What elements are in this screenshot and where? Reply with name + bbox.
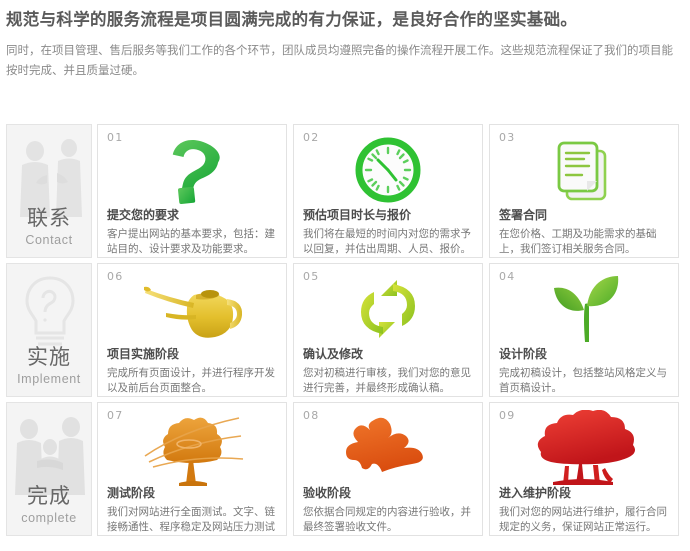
step-card[interactable]: 06 <box>97 263 287 397</box>
mature-tree-icon <box>490 409 678 487</box>
young-tree-icon <box>98 409 286 487</box>
step-card[interactable]: 03 签署合同 <box>489 124 679 258</box>
step-title: 确认及修改 <box>303 347 474 363</box>
stage-label-group: 联系 Contact <box>7 206 91 249</box>
lightbulb-silhouette-icon <box>7 270 91 356</box>
stage-label-cn: 联系 <box>7 206 91 230</box>
step-title: 进入维护阶段 <box>499 486 670 502</box>
step-description: 我们对网站进行全面测试。文字、链接畅通性、程序稳定及网站压力测试等. <box>107 505 278 536</box>
step-title: 提交您的要求 <box>107 208 278 224</box>
step-body: 提交您的要求 客户提出网站的基本要求，包括：建站目的、设计要求及功能要求。 <box>107 208 278 258</box>
page-title: 规范与科学的服务流程是项目圆满完成的有力保证，是良好合作的坚实基础。 <box>6 9 684 31</box>
stage-card-complete: 完成 complete <box>6 402 92 536</box>
handshake-people-silhouette-icon <box>7 409 91 495</box>
documents-icon <box>490 131 678 209</box>
stage-label-en: complete <box>7 510 91 528</box>
step-description: 在您价格、工期及功能需求的基础上，我们签订相关服务合同。 <box>499 227 670 258</box>
refresh-arrows-icon <box>294 270 482 348</box>
question-mark-icon <box>98 131 286 209</box>
step-title: 项目实施阶段 <box>107 347 278 363</box>
step-body: 进入维护阶段 我们对您的网站进行维护，履行合同规定的义务，保证网站正常运行。 <box>499 486 670 536</box>
step-title: 预估项目时长与报价 <box>303 208 474 224</box>
step-description: 您对初稿进行审核，我们对您的意见进行完善，并最终形成确认稿。 <box>303 366 474 397</box>
step-body: 确认及修改 您对初稿进行审核，我们对您的意见进行完善，并最终形成确认稿。 <box>303 347 474 397</box>
maple-leaf-icon <box>294 409 482 487</box>
service-process-page: 规范与科学的服务流程是项目圆满完成的有力保证，是良好合作的坚实基础。 同时，在项… <box>0 0 690 551</box>
process-grid: 联系 Contact 01 <box>6 124 684 536</box>
step-title: 签署合同 <box>499 208 670 224</box>
step-body: 签署合同 在您价格、工期及功能需求的基础上，我们签订相关服务合同。 <box>499 208 670 258</box>
stage-card-implement: 实施 Implement <box>6 263 92 397</box>
two-people-talking-silhouette-icon <box>7 131 91 217</box>
step-body: 设计阶段 完成初稿设计，包括整站风格定义与首页稿设计。 <box>499 347 670 397</box>
step-description: 完成所有页面设计，并进行程序开发以及前后台页面整合。 <box>107 366 278 397</box>
step-description: 您依据合同规定的内容进行验收，并最终签署验收文件。 <box>303 505 474 536</box>
step-description: 客户提出网站的基本要求，包括：建站目的、设计要求及功能要求。 <box>107 227 278 258</box>
stage-label-group: 完成 complete <box>7 484 91 527</box>
step-title: 验收阶段 <box>303 486 474 502</box>
step-body: 测试阶段 我们对网站进行全面测试。文字、链接畅通性、程序稳定及网站压力测试等. <box>107 486 278 536</box>
step-card[interactable]: 02 <box>293 124 483 258</box>
stage-label-en: Implement <box>7 371 91 389</box>
stage-label-group: 实施 Implement <box>7 345 91 388</box>
stage-label-cn: 完成 <box>7 484 91 508</box>
step-description: 完成初稿设计，包括整站风格定义与首页稿设计。 <box>499 366 670 397</box>
step-title: 测试阶段 <box>107 486 278 502</box>
page-subtitle: 同时，在项目管理、售后服务等我们工作的各个环节，团队成员均遵照完备的操作流程开展… <box>6 42 684 82</box>
step-description: 我们将在最短的时间内对您的需求予以回复，并估出周期、人员、报价。 <box>303 227 474 258</box>
process-row: 实施 Implement 06 <box>6 263 684 397</box>
process-row: 联系 Contact 01 <box>6 124 684 258</box>
page-header: 规范与科学的服务流程是项目圆满完成的有力保证，是良好合作的坚实基础。 同时，在项… <box>0 0 690 82</box>
stage-label-en: Contact <box>7 232 91 250</box>
stage-card-contact: 联系 Contact <box>6 124 92 258</box>
process-row: 完成 complete 07 <box>6 402 684 536</box>
step-body: 预估项目时长与报价 我们将在最短的时间内对您的需求予以回复，并估出周期、人员、报… <box>303 208 474 258</box>
step-card[interactable]: 09 <box>489 402 679 536</box>
watering-can-icon <box>98 270 286 348</box>
step-description: 我们对您的网站进行维护，履行合同规定的义务，保证网站正常运行。 <box>499 505 670 536</box>
step-card[interactable]: 04 <box>489 263 679 397</box>
step-body: 验收阶段 您依据合同规定的内容进行验收，并最终签署验收文件。 <box>303 486 474 536</box>
step-card[interactable]: 05 确认及修改 <box>293 263 483 397</box>
clock-icon <box>294 131 482 209</box>
sprout-leaf-icon <box>490 270 678 348</box>
step-card[interactable]: 07 <box>97 402 287 536</box>
stage-label-cn: 实施 <box>7 345 91 369</box>
step-body: 项目实施阶段 完成所有页面设计，并进行程序开发以及前后台页面整合。 <box>107 347 278 397</box>
step-card[interactable]: 01 提交您的要求 <box>97 124 287 258</box>
step-title: 设计阶段 <box>499 347 670 363</box>
step-card[interactable]: 08 验收阶段 您依据合同规定的内容进行验收，并最终签署验收文件。 <box>293 402 483 536</box>
